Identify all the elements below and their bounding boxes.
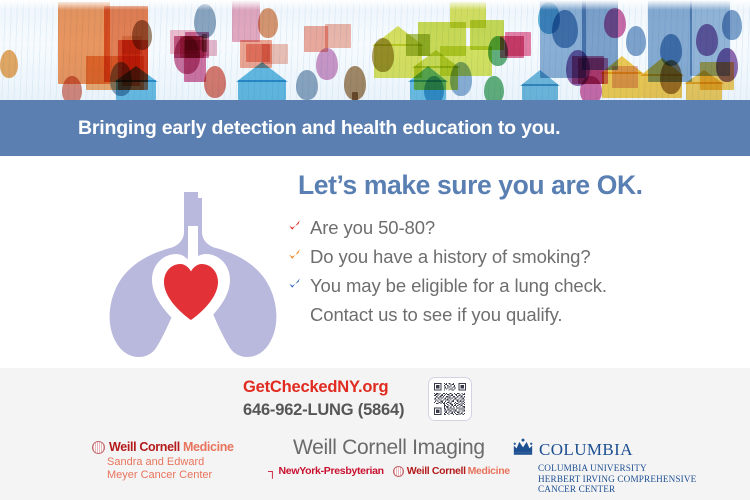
- art-tree: [424, 76, 444, 100]
- art-tree: [296, 70, 318, 100]
- imaging-partner-marks: ┐ NewYork-Presbyterian Weill Cornell Med…: [268, 464, 510, 478]
- imaging-wcm-secondary: Medicine: [468, 465, 510, 477]
- columbia-sub-line-3: CANCER CENTER: [538, 484, 696, 495]
- art-house-body: [522, 84, 558, 100]
- partner-logos: Weill Cornell Medicine Sandra and Edward…: [0, 430, 750, 500]
- qr-code-icon[interactable]: [428, 377, 472, 421]
- wcm-sub-line-2: Meyer Cancer Center: [107, 469, 234, 482]
- art-tree: [204, 66, 226, 98]
- contact-inner: GetCheckedNY.org 646-962-LUNG (5864): [243, 377, 472, 421]
- page-title: Let’s make sure you are OK.: [298, 170, 738, 201]
- columbia-name: COLUMBIA: [539, 440, 633, 460]
- nyp-text: NewYork-Presbyterian: [279, 465, 384, 477]
- tagline-text: Bringing early detection and health educ…: [0, 117, 560, 140]
- art-tree: [316, 48, 338, 80]
- check-icon: [288, 244, 310, 266]
- art-tree: [62, 76, 82, 100]
- logo-weill-cornell-imaging: Weill Cornell Imaging ┐ NewYork-Presbyte…: [268, 436, 510, 478]
- art-tree: [660, 60, 682, 94]
- wcm-secondary-text: Medicine: [183, 440, 234, 454]
- list-item: Are you 50-80?: [288, 215, 738, 241]
- wcm-primary-text: Weill Cornell: [109, 440, 180, 454]
- list-item: You may be eligible for a lung check.: [288, 273, 738, 299]
- lungs-with-heart-illustration: [96, 192, 286, 360]
- check-icon: [288, 215, 310, 237]
- art-tree: [488, 36, 508, 66]
- art-building: [262, 44, 288, 64]
- art-building: [325, 24, 351, 48]
- art-house-body: [686, 82, 722, 100]
- list-item-label: Are you 50-80?: [310, 215, 435, 241]
- message-block: Let’s make sure you are OK. Are you 50-8…: [288, 156, 738, 328]
- art-house-roof: [236, 62, 288, 82]
- list-item-label: Do you have a history of smoking?: [310, 244, 591, 270]
- header-artwork: [0, 0, 750, 100]
- weill-cornell-seal-icon: [393, 466, 404, 477]
- phone-number[interactable]: 646-962-LUNG (5864): [243, 400, 404, 421]
- wcm-sub-line-1: Sandra and Edward: [107, 456, 234, 469]
- columbia-crown-icon: [512, 438, 534, 460]
- check-icon: [288, 273, 310, 295]
- columbia-sub-line-2: HERBERT IRVING COMPREHENSIVE: [538, 474, 696, 485]
- artwork-top-fade: [0, 0, 750, 10]
- checklist-subline: Contact us to see if you qualify.: [310, 302, 738, 328]
- imaging-title: Weill Cornell Imaging: [268, 436, 510, 460]
- art-tree: [722, 10, 742, 40]
- art-tree: [604, 8, 626, 38]
- art-tree: [132, 20, 152, 50]
- wcm-primary-line: Weill Cornell Medicine: [92, 440, 234, 454]
- art-tree: [258, 8, 278, 38]
- list-item: Do you have a history of smoking?: [288, 244, 738, 270]
- tagline-banner: Bringing early detection and health educ…: [0, 100, 750, 156]
- art-tree: [0, 50, 18, 78]
- art-house-body: [238, 80, 286, 100]
- contact-lines: GetCheckedNY.org 646-962-LUNG (5864): [243, 377, 404, 421]
- logo-columbia: COLUMBIA COLUMBIA UNIVERSITY HERBERT IRV…: [512, 438, 696, 495]
- imaging-wcm-primary: Weill Cornell: [407, 465, 466, 477]
- nyp-logo-icon: ┐: [268, 464, 277, 478]
- art-tree: [716, 48, 738, 82]
- art-tree: [626, 26, 646, 56]
- art-house-body: [602, 72, 642, 98]
- art-tree: [372, 38, 394, 72]
- logo-weill-cornell-medicine: Weill Cornell Medicine Sandra and Edward…: [92, 440, 234, 482]
- art-tree-trunk: [202, 34, 207, 52]
- list-item-label: You may be eligible for a lung check.: [310, 273, 607, 299]
- art-tree: [484, 76, 504, 100]
- contact-strip: GetCheckedNY.org 646-962-LUNG (5864): [0, 368, 750, 430]
- art-tree: [174, 36, 200, 74]
- art-tree: [552, 10, 578, 48]
- art-tree: [580, 76, 602, 100]
- weill-cornell-seal-icon: [92, 441, 105, 454]
- main-content: Let’s make sure you are OK. Are you 50-8…: [0, 156, 750, 368]
- art-tree: [450, 62, 472, 96]
- art-tree-trunk: [352, 92, 358, 100]
- website-link[interactable]: GetCheckedNY.org: [243, 377, 404, 397]
- columbia-primary-line: COLUMBIA: [512, 438, 696, 460]
- health-awareness-poster: Bringing early detection and health educ…: [0, 0, 750, 500]
- eligibility-checklist: Are you 50-80? Do you have a history of …: [288, 215, 738, 299]
- art-tree: [110, 62, 132, 96]
- art-tree: [696, 24, 718, 56]
- trachea-shape: [184, 192, 198, 226]
- columbia-sub-line-1: COLUMBIA UNIVERSITY: [538, 463, 696, 474]
